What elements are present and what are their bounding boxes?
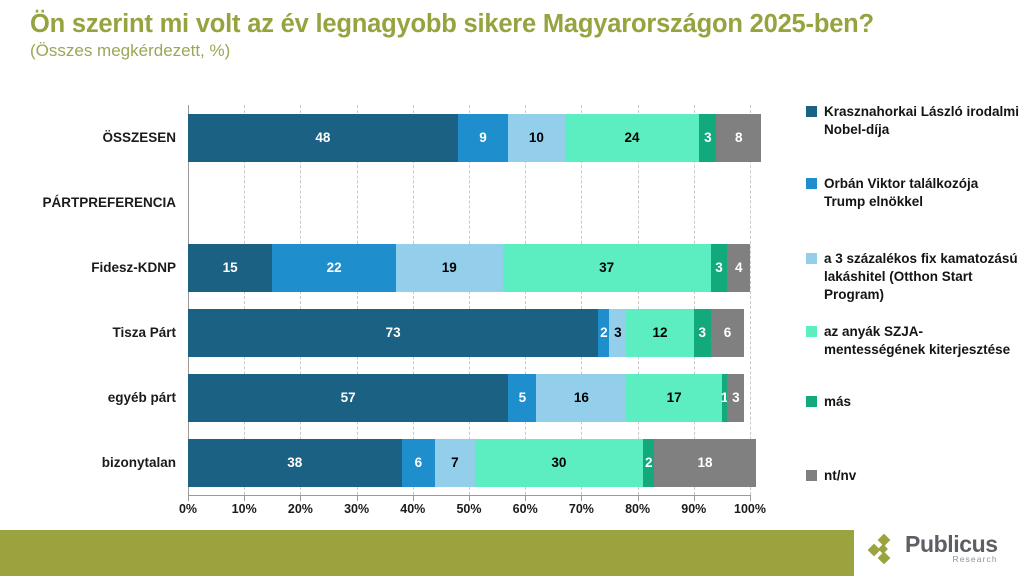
- x-tick-mark: [581, 496, 582, 501]
- brand-logo: Publicus Research: [854, 520, 1024, 576]
- bar-segment-value: 17: [667, 390, 682, 405]
- bar-segment-value: 57: [341, 390, 356, 405]
- bar-segment[interactable]: 3: [694, 309, 711, 357]
- bar-segment[interactable]: 7: [435, 439, 474, 487]
- x-tick-mark: [469, 496, 470, 501]
- gridline-50: [469, 105, 471, 495]
- bar-segment-value: 10: [529, 130, 544, 145]
- legend-label: a 3 százalékos fix kamatozású lakáshitel…: [824, 250, 1020, 303]
- bar-segment[interactable]: 18: [654, 439, 755, 487]
- x-tick-mark: [188, 496, 189, 501]
- legend-item-4[interactable]: más: [806, 393, 1020, 411]
- bar-segment[interactable]: 5: [508, 374, 536, 422]
- gridlines: [188, 105, 750, 495]
- x-tick-label-60: 60%: [513, 502, 538, 516]
- gridline-40: [413, 105, 415, 495]
- bar-segment[interactable]: 37: [503, 244, 711, 292]
- legend-swatch-icon: [806, 178, 817, 189]
- bar-segment[interactable]: 2: [598, 309, 609, 357]
- gridline-90: [694, 105, 696, 495]
- bar-segment[interactable]: 19: [396, 244, 503, 292]
- bar-segment[interactable]: 8: [716, 114, 761, 162]
- bar-segment[interactable]: 15: [188, 244, 272, 292]
- page-title: Ön szerint mi volt az év legnagyobb sike…: [30, 10, 990, 39]
- category-label-1: PÁRTPREFERENCIA: [0, 170, 176, 235]
- bar-row-0[interactable]: 489102438: [188, 114, 761, 162]
- legend-item-2[interactable]: a 3 százalékos fix kamatozású lakáshitel…: [806, 250, 1020, 303]
- bar-segment-value: 9: [479, 130, 487, 145]
- bar-segment[interactable]: 2: [643, 439, 654, 487]
- gridline-10: [244, 105, 246, 495]
- logo-name: Publicus: [905, 533, 998, 556]
- legend-swatch-icon: [806, 106, 817, 117]
- bar-segment[interactable]: 3: [711, 244, 728, 292]
- gridline-0: [188, 105, 190, 495]
- legend-swatch-icon: [806, 396, 817, 407]
- bar-segment[interactable]: 9: [458, 114, 509, 162]
- x-tick-mark: [244, 496, 245, 501]
- chart-header: Ön szerint mi volt az év legnagyobb sike…: [30, 10, 990, 62]
- legend-item-0[interactable]: Krasznahorkai László irodalmi Nobel-díja: [806, 103, 1020, 139]
- x-tick-mark: [357, 496, 358, 501]
- bar-segment-value: 22: [327, 260, 342, 275]
- bar-segment[interactable]: 3: [609, 309, 626, 357]
- x-tick-label-20: 20%: [288, 502, 313, 516]
- legend-label: Orbán Viktor találkozója Trump elnökkel: [824, 175, 1020, 211]
- legend-label: más: [824, 393, 851, 411]
- bar-segment[interactable]: 57: [188, 374, 508, 422]
- bar-row-2[interactable]: 1522193734: [188, 244, 750, 292]
- bar-segment-value: 18: [697, 455, 712, 470]
- bar-segment-value: 2: [600, 325, 608, 340]
- bar-segment-value: 19: [442, 260, 457, 275]
- gridline-30: [357, 105, 359, 495]
- bar-segment-value: 30: [551, 455, 566, 470]
- bar-row-4[interactable]: 575161713: [188, 374, 744, 422]
- bar-segment-value: 3: [614, 325, 622, 340]
- x-tick-label-10: 10%: [232, 502, 257, 516]
- bar-segment[interactable]: 48: [188, 114, 458, 162]
- x-tick-mark: [525, 496, 526, 501]
- x-tick-mark: [638, 496, 639, 501]
- x-tick-label-0: 0%: [179, 502, 197, 516]
- bar-segment-value: 24: [624, 130, 639, 145]
- x-axis: 0%10%20%30%40%50%60%70%80%90%100%: [188, 496, 751, 522]
- chart-legend: Krasznahorkai László irodalmi Nobel-díja…: [806, 95, 1020, 505]
- bar-row-5[interactable]: 386730218: [188, 439, 756, 487]
- x-tick-mark: [413, 496, 414, 501]
- gridline-80: [638, 105, 640, 495]
- bar-segment-value: 38: [287, 455, 302, 470]
- bar-segment-value: 7: [451, 455, 459, 470]
- category-label-0: ÖSSZESEN: [0, 105, 176, 170]
- bar-segment[interactable]: 30: [475, 439, 644, 487]
- x-tick-label-50: 50%: [456, 502, 481, 516]
- bar-segment-value: 3: [698, 325, 706, 340]
- bar-segment-value: 73: [386, 325, 401, 340]
- gridline-60: [525, 105, 527, 495]
- bar-segment[interactable]: 17: [626, 374, 722, 422]
- x-tick-label-100: 100%: [734, 502, 766, 516]
- bar-segment[interactable]: 10: [508, 114, 564, 162]
- legend-label: az anyák SZJA-mentességének kiterjesztés…: [824, 323, 1020, 359]
- bar-segment[interactable]: 24: [565, 114, 700, 162]
- legend-swatch-icon: [806, 253, 817, 264]
- bar-segment-value: 37: [599, 260, 614, 275]
- bar-segment-value: 48: [315, 130, 330, 145]
- legend-item-1[interactable]: Orbán Viktor találkozója Trump elnökkel: [806, 175, 1020, 211]
- bar-segment[interactable]: 3: [699, 114, 716, 162]
- bar-segment-value: 4: [735, 260, 743, 275]
- bar-segment[interactable]: 3: [727, 374, 744, 422]
- bar-segment[interactable]: 6: [711, 309, 745, 357]
- bar-segment-value: 15: [223, 260, 238, 275]
- bar-segment-value: 3: [732, 390, 740, 405]
- bar-segment-value: 3: [704, 130, 712, 145]
- bar-segment[interactable]: 6: [402, 439, 436, 487]
- bar-segment-value: 12: [653, 325, 668, 340]
- bar-segment-value: 5: [519, 390, 527, 405]
- publicus-diamond-icon: [868, 534, 898, 564]
- gridline-70: [581, 105, 583, 495]
- bar-row-3[interactable]: 73231236: [188, 309, 744, 357]
- bar-segment-value: 8: [735, 130, 743, 145]
- category-axis: ÖSSZESENPÁRTPREFERENCIAFidesz-KDNPTisza …: [0, 105, 182, 495]
- bar-segment[interactable]: 4: [727, 244, 749, 292]
- gridline-100: [750, 105, 752, 495]
- gridline-20: [300, 105, 302, 495]
- x-tick-label-70: 70%: [569, 502, 594, 516]
- bar-segment-value: 6: [415, 455, 423, 470]
- category-label-5: bizonytalan: [0, 430, 176, 495]
- bar-segment-value: 3: [715, 260, 723, 275]
- x-tick-label-30: 30%: [344, 502, 369, 516]
- x-tick-label-80: 80%: [625, 502, 650, 516]
- plot-area: 4891024381522193734732312365751617133867…: [188, 105, 750, 495]
- bar-segment-value: 16: [574, 390, 589, 405]
- bar-segment[interactable]: 38: [188, 439, 402, 487]
- category-label-2: Fidesz-KDNP: [0, 235, 176, 300]
- legend-label: Krasznahorkai László irodalmi Nobel-díja: [824, 103, 1020, 139]
- page-subtitle: (Összes megkérdezett, %): [30, 40, 990, 62]
- legend-item-3[interactable]: az anyák SZJA-mentességének kiterjesztés…: [806, 323, 1020, 359]
- legend-swatch-icon: [806, 326, 817, 337]
- logo-text: Publicus Research: [905, 533, 998, 564]
- bar-segment[interactable]: 73: [188, 309, 598, 357]
- legend-item-5[interactable]: nt/nv: [806, 467, 1020, 485]
- x-tick-mark: [750, 496, 751, 501]
- x-tick-label-90: 90%: [681, 502, 706, 516]
- category-label-4: egyéb párt: [0, 365, 176, 430]
- bar-segment-value: 6: [724, 325, 732, 340]
- x-tick-mark: [694, 496, 695, 501]
- chart-plot-wrapper: ÖSSZESENPÁRTPREFERENCIAFidesz-KDNPTisza …: [0, 95, 790, 525]
- legend-swatch-icon: [806, 470, 817, 481]
- bar-segment[interactable]: 12: [626, 309, 693, 357]
- bar-segment[interactable]: 16: [536, 374, 626, 422]
- bar-segment[interactable]: 22: [272, 244, 396, 292]
- bar-segment-value: 2: [645, 455, 653, 470]
- x-tick-label-40: 40%: [400, 502, 425, 516]
- legend-label: nt/nv: [824, 467, 856, 485]
- x-tick-mark: [300, 496, 301, 501]
- category-label-3: Tisza Párt: [0, 300, 176, 365]
